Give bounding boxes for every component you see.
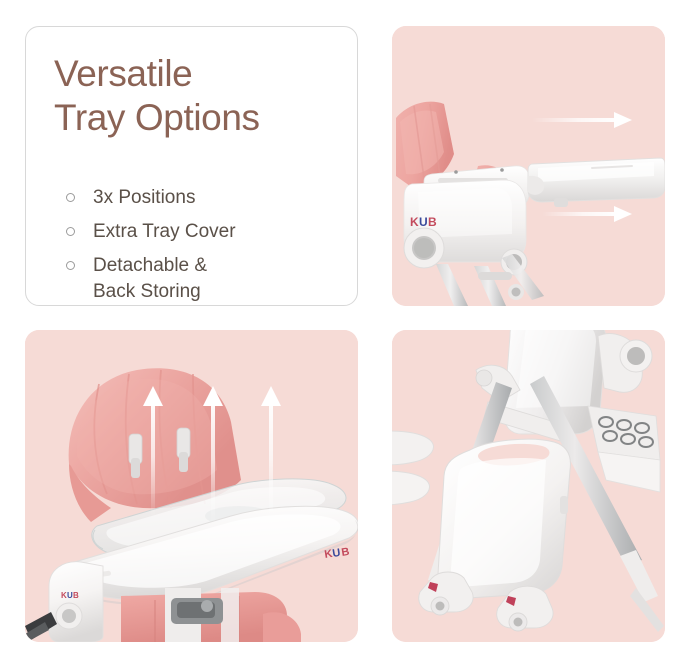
feature-list: 3x Positions Extra Tray Cover Detachable… — [66, 185, 351, 313]
ring-bullet-icon — [66, 261, 75, 270]
ring-bullet-icon — [66, 193, 75, 202]
list-item: 3x Positions — [66, 185, 351, 211]
list-item: Detachable & Back Storing — [66, 253, 351, 305]
svg-text:K: K — [410, 215, 419, 229]
page-title: Versatile Tray Options — [54, 52, 260, 140]
brand-logo-kub: K U B — [410, 215, 437, 229]
back-storing-illustration — [392, 330, 665, 642]
tray-detach-photo: K U B — [392, 26, 665, 306]
list-item: Extra Tray Cover — [66, 219, 351, 245]
back-storing-photo — [392, 330, 665, 642]
tray-cover-illustration: K U B — [25, 330, 358, 642]
infographic-board: Versatile Tray Options 3x Positions Extr… — [0, 0, 679, 668]
list-item-label: Extra Tray Cover — [93, 219, 236, 245]
list-item-label: 3x Positions — [93, 185, 195, 211]
brand-logo-kub: K U B — [61, 591, 79, 600]
list-item-label: Detachable & Back Storing — [93, 253, 207, 305]
svg-text:U: U — [419, 215, 427, 229]
svg-text:B: B — [428, 215, 437, 229]
tray-detach-illustration: K U B — [392, 26, 665, 306]
ring-bullet-icon — [66, 227, 75, 236]
tray-cover-photo: K U B — [25, 330, 358, 642]
svg-text:B: B — [73, 591, 79, 600]
feature-text-card: Versatile Tray Options 3x Positions Extr… — [25, 26, 358, 306]
